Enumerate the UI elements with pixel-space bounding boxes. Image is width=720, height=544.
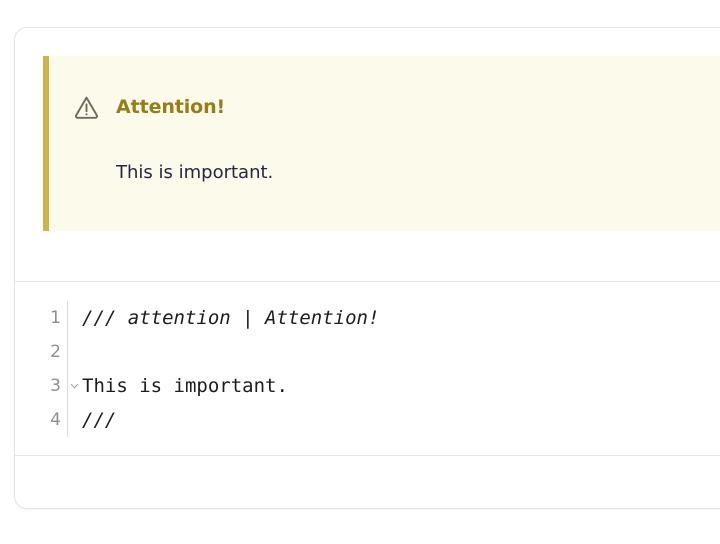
code-line-text: /// attention | Attention! — [82, 309, 379, 328]
code-line[interactable]: /// — [82, 403, 720, 437]
example-card: Attention! This is important. 1 2 3 — [14, 27, 720, 509]
line-number: 3 — [50, 378, 61, 395]
line-number: 4 — [50, 412, 61, 429]
gutter-row: 1 — [15, 301, 67, 335]
admonition-title: Attention! — [116, 98, 225, 117]
admonition-attention: Attention! This is important. — [43, 56, 720, 231]
line-number-gutter: 1 2 3 4 — [15, 301, 68, 437]
gutter-row: 4 — [15, 403, 67, 437]
warning-triangle-icon — [73, 94, 100, 121]
code-line[interactable] — [82, 335, 720, 369]
page-root: Attention! This is important. 1 2 3 — [0, 0, 720, 544]
line-number: 1 — [50, 310, 61, 327]
code-line[interactable]: /// attention | Attention! — [82, 301, 720, 335]
code-content[interactable]: /// attention | Attention! This is impor… — [68, 301, 720, 437]
gutter-row: 2 — [15, 335, 67, 369]
code-line[interactable]: This is important. — [82, 369, 720, 403]
preview-pane: Attention! This is important. — [15, 28, 720, 282]
code-pane: 1 2 3 4 — [15, 283, 720, 456]
line-number: 2 — [50, 344, 61, 361]
code-editor[interactable]: 1 2 3 4 — [15, 301, 720, 455]
card-footer — [15, 457, 720, 508]
code-line-text: This is important. — [82, 377, 288, 396]
gutter-row: 3 — [15, 369, 67, 403]
admonition-body: This is important. — [116, 162, 273, 184]
chevron-down-icon[interactable] — [69, 381, 80, 392]
code-line-text: /// — [82, 411, 116, 430]
admonition-title-row: Attention! — [73, 94, 225, 121]
